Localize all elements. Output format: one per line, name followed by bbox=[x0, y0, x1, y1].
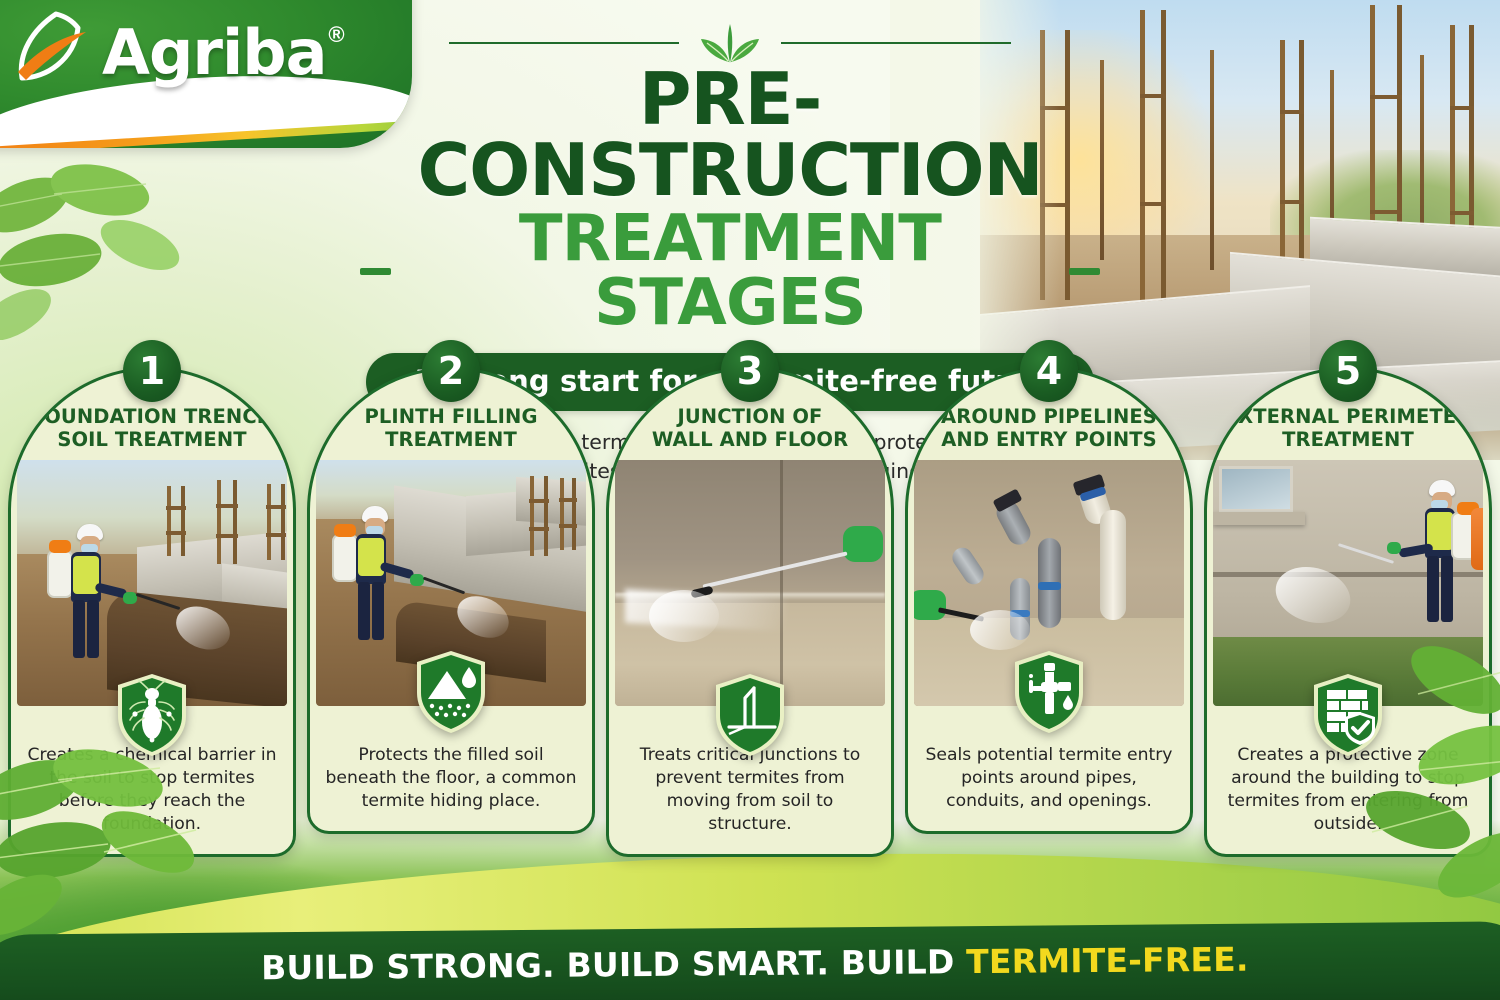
worker-leg bbox=[1441, 556, 1453, 622]
rebar-rod bbox=[1210, 50, 1214, 270]
divider-rule-left bbox=[449, 42, 679, 44]
stage-photo bbox=[1213, 460, 1483, 706]
footer-slogan-plain: BUILD STRONG. BUILD SMART. BUILD bbox=[261, 942, 966, 987]
worker-leg bbox=[358, 582, 370, 640]
stage-number-badge: 3 bbox=[721, 340, 779, 402]
termite-icon bbox=[115, 672, 189, 758]
stage-title-line1: FOUNDATION TRENCH bbox=[21, 406, 283, 429]
stage-number-badge: 1 bbox=[123, 340, 181, 402]
stage-cards-row: 1 FOUNDATION TRENCH SOIL TREATMENT bbox=[0, 340, 1500, 857]
stage-card[interactable]: 1 FOUNDATION TRENCH SOIL TREATMENT bbox=[8, 340, 296, 857]
title-dash-right bbox=[1069, 268, 1100, 275]
brand-name: Agriba bbox=[102, 16, 326, 89]
sprayer-tank bbox=[332, 534, 358, 582]
worker-glove bbox=[410, 574, 424, 586]
page-title-line2: TREATMENT STAGES bbox=[405, 207, 1055, 335]
stage-description: Protects the filled soil beneath the flo… bbox=[310, 744, 592, 819]
stage-number-badge: 2 bbox=[422, 340, 480, 402]
stage-number-badge: 5 bbox=[1319, 340, 1377, 402]
rebar-rod bbox=[1100, 60, 1104, 260]
leaf-swoosh-logo-icon bbox=[12, 8, 94, 96]
stage-title-line1: JUNCTION OF bbox=[619, 406, 881, 429]
sprayer-tank-cap bbox=[334, 524, 356, 537]
stage-description: Creates a protective zone around the bui… bbox=[1207, 744, 1489, 842]
footer-slogan: BUILD STRONG. BUILD SMART. BUILD TERMITE… bbox=[261, 940, 1249, 988]
photo-rebar-column bbox=[530, 476, 548, 556]
stage-title-line1: EXTERNAL PERIMETER bbox=[1217, 406, 1479, 429]
worker-glove bbox=[123, 592, 137, 604]
stage-title-line1: AROUND PIPELINES bbox=[918, 406, 1180, 429]
sprayer-tank bbox=[47, 550, 73, 598]
worker-leg bbox=[372, 582, 384, 640]
infographic-poster: Agriba ® PRE-CONSTRUCTION TREATMENT STAG… bbox=[0, 0, 1500, 1000]
stage-title-line2: TREATMENT bbox=[320, 429, 582, 452]
rebar-column bbox=[1280, 40, 1304, 290]
page-title-line2-row: TREATMENT STAGES bbox=[360, 207, 1100, 335]
footer-slogan-highlight: TERMITE-FREE. bbox=[966, 940, 1249, 981]
stage-title-line2: SOIL TREATMENT bbox=[21, 429, 283, 452]
registered-trademark-mark: ® bbox=[328, 22, 344, 48]
pipe-blue-band bbox=[1038, 582, 1061, 590]
worker-leg bbox=[1427, 556, 1439, 622]
photo-rebar-column bbox=[560, 478, 576, 550]
worker-glove bbox=[1387, 542, 1401, 554]
safety-vest bbox=[358, 538, 384, 576]
photo-wall-corner bbox=[780, 460, 783, 706]
stage-description: Seals potential termite entry points aro… bbox=[908, 744, 1190, 819]
stage-photo bbox=[615, 460, 885, 706]
rebar-column bbox=[1140, 10, 1166, 310]
spray-mist bbox=[649, 590, 719, 642]
stage-card[interactable]: 3 JUNCTION OF WALL AND FLOOR bbox=[606, 340, 894, 857]
stage-number-badge: 4 bbox=[1020, 340, 1078, 402]
photo-rebar-column bbox=[167, 486, 185, 556]
pipe-valve-droplet-icon bbox=[1012, 649, 1086, 735]
stage-card[interactable]: 4 AROUND PIPELINES AND ENTRY POINTS bbox=[905, 340, 1193, 857]
spray-mist bbox=[970, 610, 1030, 650]
worker-leg bbox=[87, 600, 99, 658]
worker-leg bbox=[73, 600, 85, 658]
wall-floor-junction-icon bbox=[713, 672, 787, 758]
page-title-line1: PRE-CONSTRUCTION bbox=[360, 64, 1100, 205]
stage-title-line1: PLINTH FILLING bbox=[320, 406, 582, 429]
sprayer-pack bbox=[1471, 508, 1483, 570]
leaf-decoration-top-left bbox=[0, 150, 220, 340]
photo-window-sill bbox=[1213, 512, 1305, 525]
photo-rebar-column bbox=[217, 480, 237, 564]
pipe-white bbox=[1100, 510, 1126, 620]
photo-window bbox=[1219, 466, 1293, 512]
stage-card[interactable]: 2 PLINTH FILLING TREATMENT bbox=[307, 340, 595, 857]
stage-photo bbox=[17, 460, 287, 706]
brick-wall-shield-check-icon bbox=[1311, 672, 1385, 758]
sprayer-tank-cap bbox=[49, 540, 71, 553]
photo-rebar-column bbox=[267, 484, 285, 560]
worker-glove bbox=[914, 590, 946, 620]
stage-description: Treats critical junctions to prevent ter… bbox=[609, 744, 891, 842]
stage-title-line2: AND ENTRY POINTS bbox=[918, 429, 1180, 452]
title-dash-left bbox=[360, 268, 391, 275]
stage-title-line2: TREATMENT bbox=[1217, 429, 1479, 452]
stage-description: Creates a chemical barrier in the soil t… bbox=[11, 744, 293, 842]
divider-rule-right bbox=[781, 42, 1011, 44]
worker-glove bbox=[843, 526, 883, 562]
stage-card[interactable]: 5 EXTERNAL PERIMETER TREATMENT bbox=[1204, 340, 1492, 857]
footer-bar: BUILD STRONG. BUILD SMART. BUILD TERMITE… bbox=[0, 921, 1500, 1000]
soil-mound-droplet-icon bbox=[414, 649, 488, 735]
stage-title-line2: WALL AND FLOOR bbox=[619, 429, 881, 452]
brand-logo-banner[interactable]: Agriba ® bbox=[0, 0, 412, 148]
